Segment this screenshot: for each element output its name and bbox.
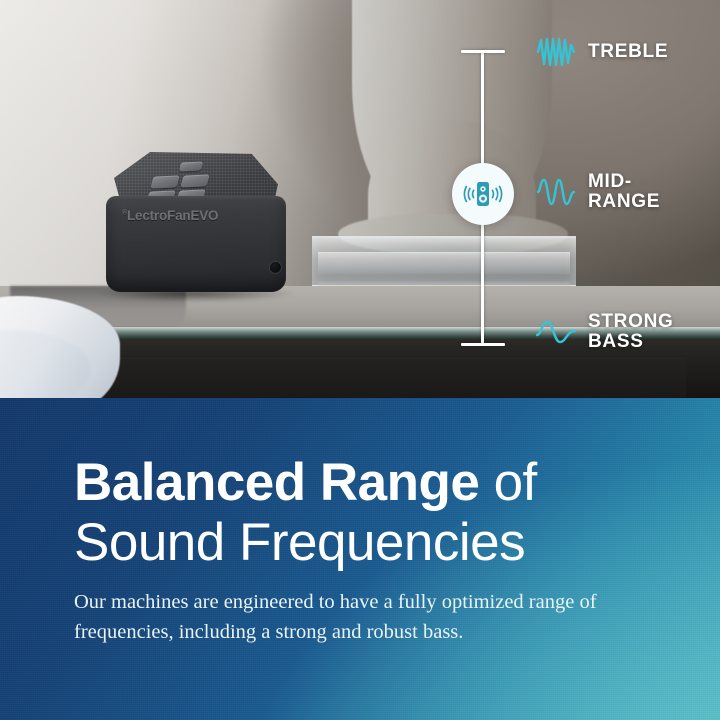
device-power-jack bbox=[270, 262, 281, 273]
callout-mid-range: MID- RANGE bbox=[536, 172, 660, 212]
lectrofan-evo-device: ®LectroFanEVO bbox=[104, 152, 288, 300]
measure-cap-bottom bbox=[461, 343, 505, 346]
nightstand-drawer-panel bbox=[46, 358, 686, 398]
product-photo-scene: ®LectroFanEVO bbox=[0, 0, 720, 398]
high-frequency-wave-icon bbox=[536, 35, 576, 69]
callout-strong-bass: STRONG BASS bbox=[536, 312, 673, 352]
body-copy: Our machines are engineered to have a fu… bbox=[74, 588, 634, 647]
marketing-image: ®LectroFanEVO bbox=[0, 0, 720, 720]
headline-strong: Balanced Range bbox=[74, 453, 479, 512]
headline-connector: of bbox=[479, 453, 536, 512]
brand-name: LectroFan bbox=[127, 208, 190, 223]
brand-model: EVO bbox=[190, 208, 218, 223]
page-headline: Balanced Range of Sound Frequencies bbox=[74, 455, 674, 570]
measure-cap-top bbox=[461, 50, 505, 53]
callout-treble: TREBLE bbox=[536, 35, 668, 69]
mid-frequency-wave-icon bbox=[536, 175, 576, 209]
low-frequency-wave-icon bbox=[536, 315, 576, 349]
speaker-icon-bubble bbox=[452, 163, 514, 225]
sound-next-button[interactable] bbox=[180, 174, 209, 187]
callout-label-mid-range: MID- RANGE bbox=[588, 172, 660, 212]
callout-label-strong-bass: STRONG BASS bbox=[588, 312, 673, 352]
speaker-icon bbox=[463, 179, 503, 209]
power-button[interactable] bbox=[179, 161, 203, 171]
headline-line-2: Sound Frequencies bbox=[74, 515, 674, 570]
glass-riser-highlight bbox=[318, 252, 570, 274]
device-brand-logo: ®LectroFanEVO bbox=[122, 208, 272, 223]
sound-prev-button[interactable] bbox=[150, 175, 179, 188]
callout-label-treble: TREBLE bbox=[588, 42, 668, 62]
